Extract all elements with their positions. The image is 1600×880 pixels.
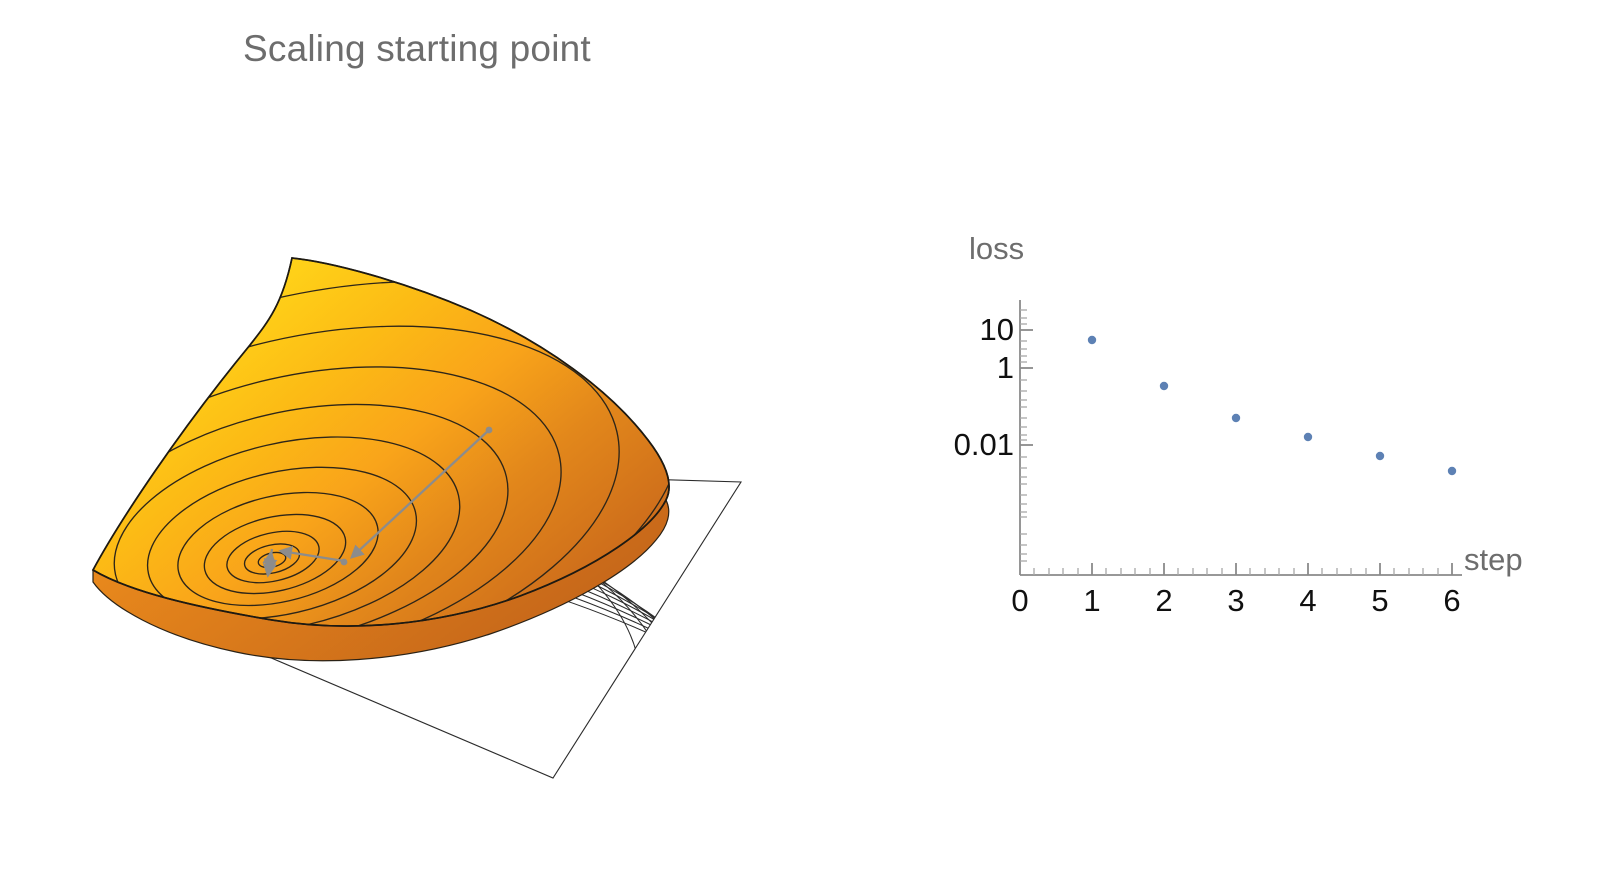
x-tick-label: 2 <box>1155 583 1172 619</box>
x-tick-label: 0 <box>1011 583 1028 619</box>
descent-point-marker <box>341 559 348 566</box>
y-axis-label: loss <box>969 231 1024 267</box>
y-axis-minor-ticks <box>1020 310 1027 561</box>
scatter-point <box>1304 433 1312 441</box>
x-tick-label: 5 <box>1371 583 1388 619</box>
scatter-point <box>1160 382 1168 390</box>
descent-start-marker <box>486 427 493 434</box>
scatter-point <box>1448 467 1456 475</box>
scatter-point <box>1088 336 1096 344</box>
x-tick-label: 4 <box>1299 583 1316 619</box>
figure-canvas <box>0 0 1600 880</box>
y-tick-label: 0.01 <box>954 427 1014 463</box>
x-axis-major-ticks <box>1092 563 1452 575</box>
y-tick-label: 1 <box>997 350 1014 386</box>
x-tick-label: 3 <box>1227 583 1244 619</box>
x-tick-label: 1 <box>1083 583 1100 619</box>
scatter-point <box>1232 414 1240 422</box>
scatter-points <box>1088 336 1456 475</box>
scatter-point <box>1376 452 1384 460</box>
loss-scatter-plot <box>1020 300 1462 575</box>
x-tick-label: 6 <box>1443 583 1460 619</box>
y-axis-major-ticks <box>1020 330 1033 445</box>
descent-end-marker <box>267 559 274 566</box>
y-tick-label: 10 <box>980 312 1014 348</box>
x-axis-label: step <box>1464 542 1523 578</box>
